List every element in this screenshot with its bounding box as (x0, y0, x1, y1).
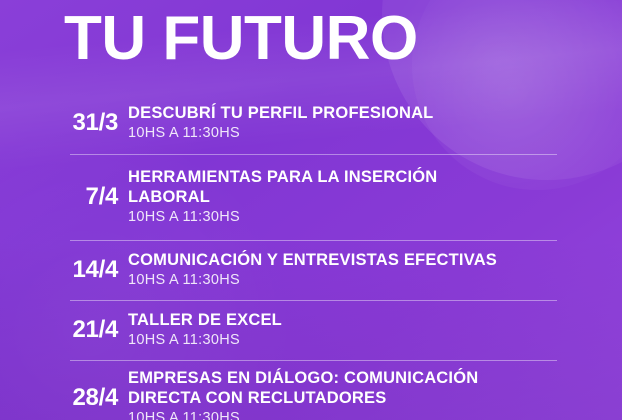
event-details: COMUNICACIÓN Y ENTREVISTAS EFECTIVAS10HS… (128, 250, 558, 290)
row-divider (70, 240, 557, 241)
event-date: 14/4 (0, 256, 128, 284)
poster-content: TU FUTURO 31/3DESCUBRÍ TU PERFIL PROFESI… (0, 0, 622, 420)
event-date: 7/4 (0, 183, 128, 211)
event-time: 10HS A 11:30HS (128, 409, 558, 420)
event-details: TALLER DE EXCEL10HS A 11:30HS (128, 310, 558, 350)
row-divider (70, 154, 557, 155)
event-time: 10HS A 11:30HS (128, 271, 558, 290)
event-details: HERRAMIENTAS PARA LA INSERCIÓNLABORAL10H… (128, 167, 558, 227)
event-title-line: EMPRESAS EN DIÁLOGO: COMUNICACIÓN (128, 368, 558, 388)
page-title: TU FUTURO (64, 2, 418, 76)
event-date: 28/4 (0, 384, 128, 412)
schedule-row: 31/3DESCUBRÍ TU PERFIL PROFESIONAL10HS A… (0, 92, 622, 154)
event-date: 21/4 (0, 316, 128, 344)
event-title-line: TALLER DE EXCEL (128, 310, 558, 330)
event-details: EMPRESAS EN DIÁLOGO: COMUNICACIÓNDIRECTA… (128, 368, 558, 420)
schedule-row: 21/4TALLER DE EXCEL10HS A 11:30HS (0, 300, 622, 360)
event-title-line: DESCUBRÍ TU PERFIL PROFESIONAL (128, 103, 558, 123)
event-title-line: LABORAL (128, 187, 558, 207)
schedule-row: 28/4EMPRESAS EN DIÁLOGO: COMUNICACIÓNDIR… (0, 360, 622, 420)
event-details: DESCUBRÍ TU PERFIL PROFESIONAL10HS A 11:… (128, 103, 558, 143)
schedule-row: 7/4HERRAMIENTAS PARA LA INSERCIÓNLABORAL… (0, 154, 622, 240)
event-time: 10HS A 11:30HS (128, 124, 558, 143)
poster-canvas: TU FUTURO 31/3DESCUBRÍ TU PERFIL PROFESI… (0, 0, 622, 420)
event-time: 10HS A 11:30HS (128, 331, 558, 350)
schedule-row: 14/4COMUNICACIÓN Y ENTREVISTAS EFECTIVAS… (0, 240, 622, 300)
event-date: 31/3 (0, 109, 128, 137)
event-title-line: COMUNICACIÓN Y ENTREVISTAS EFECTIVAS (128, 250, 558, 270)
row-divider (70, 360, 557, 361)
row-divider (70, 300, 557, 301)
event-time: 10HS A 11:30HS (128, 208, 558, 227)
event-title-line: DIRECTA CON RECLUTADORES (128, 388, 558, 408)
event-title-line: HERRAMIENTAS PARA LA INSERCIÓN (128, 167, 558, 187)
